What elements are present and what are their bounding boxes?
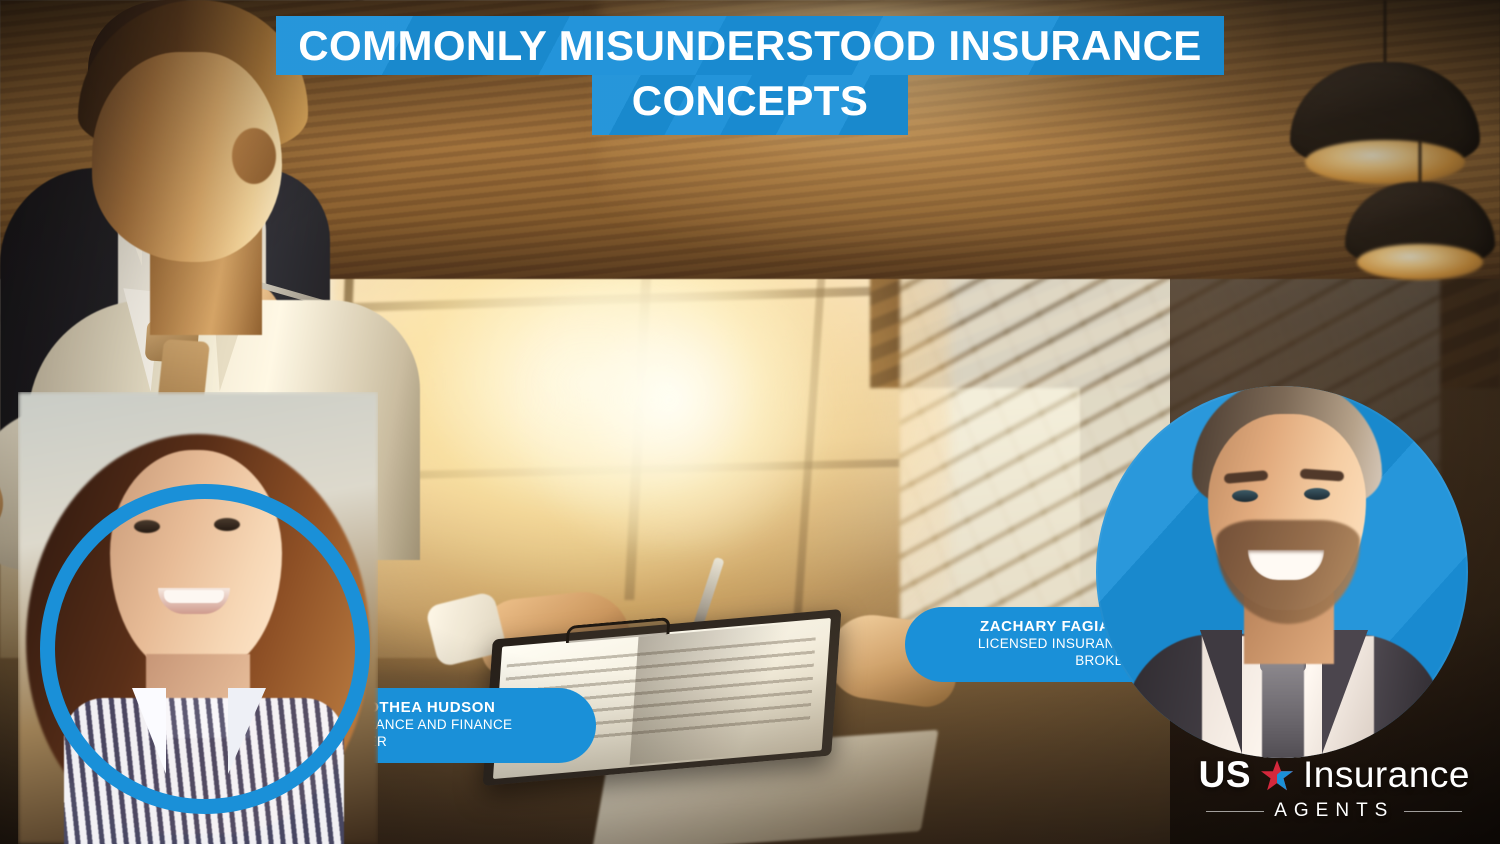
title-line-1: COMMONLY MISUNDERSTOOD INSURANCE xyxy=(276,16,1223,75)
title-line-2: CONCEPTS xyxy=(592,75,909,136)
logo-rule-right xyxy=(1404,811,1462,812)
promo-banner: COMMONLY MISUNDERSTOOD INSURANCE CONCEPT… xyxy=(0,0,1500,844)
logo-word-insurance: Insurance xyxy=(1303,754,1470,796)
logo-word-agents: AGENTS xyxy=(1274,800,1394,822)
logo-rule-left xyxy=(1206,811,1264,812)
brand-logo: US Insurance AGENTS xyxy=(1199,754,1470,822)
logo-word-us: US xyxy=(1199,754,1251,796)
star-icon xyxy=(1260,759,1294,793)
avatar-zachary xyxy=(1096,386,1468,758)
avatar-dorothea-photo xyxy=(18,392,378,844)
page-title: COMMONLY MISUNDERSTOOD INSURANCE CONCEPT… xyxy=(0,16,1500,135)
